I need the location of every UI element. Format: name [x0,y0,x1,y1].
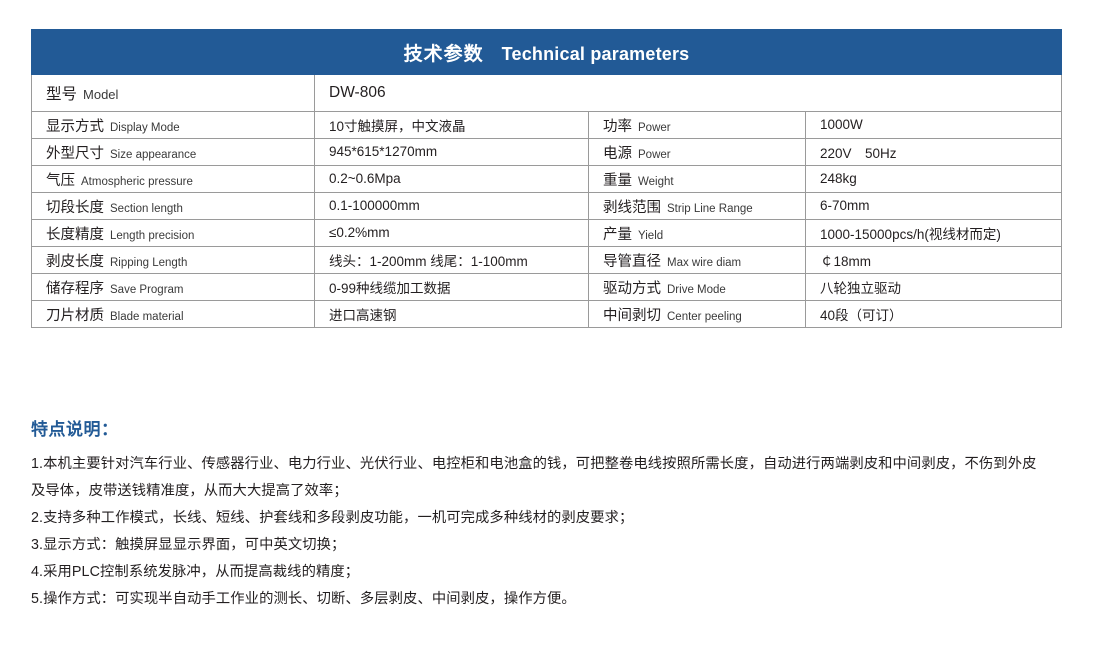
param-value-cell: ￠18mm [806,247,1062,274]
param-label-en: Yield [638,230,663,242]
feature-item: 2.支持多种工作模式，长线、短线、护套线和多段剥皮功能，一机可完成多种线材的剥皮… [31,505,1061,532]
table-title-en: Technical parameters [502,44,690,64]
param-value: 10寸触摸屏，中文液晶 [329,119,466,134]
param-label-cn: 电源 [603,146,632,162]
param-label-cell: 外型尺寸Size appearance [32,139,315,166]
param-label-cell: 导管直径Max wire diam [589,247,806,274]
feature-item: 5.操作方式：可实现半自动手工作业的测长、切断、多层剥皮、中间剥皮，操作方便。 [31,586,1061,613]
param-label-cn: 切段长度 [46,200,104,216]
param-label-cn: 驱动方式 [603,281,661,297]
param-label-en: Weight [638,176,674,188]
features-section: 特点说明： 1.本机主要针对汽车行业、传感器行业、电力行业、光伏行业、电控柜和电… [31,415,1061,613]
param-label-cell: 中间剥切Center peeling [589,301,806,328]
param-value-cell: 1000W [806,112,1062,139]
param-label-en: Ripping Length [110,257,187,269]
param-label-cell: 产量Yield [589,220,806,247]
param-value: ￠18mm [820,254,871,269]
param-value-cell: 线头：1-200mm 线尾：1-100mm [315,247,589,274]
table-row: 储存程序Save Program 0-99种线缆加工数据 驱动方式Drive M… [32,274,1062,301]
param-value-cell: 945*615*1270mm [315,139,589,166]
param-label-en: Display Mode [110,122,180,134]
param-label-en: Save Program [110,284,184,296]
param-value: 40段（可订） [820,308,903,323]
param-value-cell: 0-99种线缆加工数据 [315,274,589,301]
param-label-cell: 气压Atmospheric pressure [32,166,315,193]
param-value: 线头：1-200mm 线尾：1-100mm [329,254,528,269]
param-value: 945*615*1270mm [329,144,437,159]
param-value: ≤0.2%mm [329,225,390,240]
param-value-cell: 0.1-100000mm [315,193,589,220]
param-label-cn: 刀片材质 [46,308,104,324]
param-value-cell: 1000-15000pcs/h(视线材而定) [806,220,1062,247]
param-label-en: Power [638,122,671,134]
model-value-cell: DW-806 [315,75,1062,112]
param-label-cn: 储存程序 [46,281,104,297]
param-label-cell: 刀片材质Blade material [32,301,315,328]
param-value-cell: ≤0.2%mm [315,220,589,247]
param-label-cn: 剥皮长度 [46,254,104,270]
features-heading: 特点说明： [31,415,1061,440]
spec-table-container: 技术参数Technical parameters 型号Model DW-806 … [31,29,1061,328]
model-value: DW-806 [329,84,386,101]
param-label-cn: 导管直径 [603,254,661,270]
table-title-cn: 技术参数 [404,44,484,65]
param-label-en: Length precision [110,230,194,242]
model-label-cn: 型号 [46,86,77,103]
param-value: 1000-15000pcs/h(视线材而定) [820,227,1001,242]
feature-item: 3.显示方式：触摸屏显显示界面，可中英文切换； [31,532,1061,559]
param-label-cn: 长度精度 [46,227,104,243]
param-value: 1000W [820,117,863,132]
model-label-en: Model [83,87,118,102]
table-row: 气压Atmospheric pressure 0.2~0.6Mpa 重量Weig… [32,166,1062,193]
param-value-cell: 6-70mm [806,193,1062,220]
param-label-en: Section length [110,203,183,215]
param-label-cell: 剥线范围Strip Line Range [589,193,806,220]
param-value: 220V 50Hz [820,146,897,161]
param-label-en: Max wire diam [667,257,741,269]
param-label-en: Power [638,149,671,161]
technical-parameters-table: 技术参数Technical parameters 型号Model DW-806 … [31,29,1062,328]
table-row: 剥皮长度Ripping Length 线头：1-200mm 线尾：1-100mm… [32,247,1062,274]
feature-item: 4.采用PLC控制系统发脉冲，从而提高裁线的精度； [31,559,1061,586]
param-label-en: Strip Line Range [667,203,753,215]
param-value-cell: 248kg [806,166,1062,193]
param-label-cell: 储存程序Save Program [32,274,315,301]
table-row: 长度精度Length precision ≤0.2%mm 产量Yield 100… [32,220,1062,247]
param-label-cn: 显示方式 [46,119,104,135]
param-value: 0-99种线缆加工数据 [329,281,451,296]
param-value-cell: 八轮独立驱动 [806,274,1062,301]
param-label-cell: 剥皮长度Ripping Length [32,247,315,274]
table-row: 显示方式Display Mode 10寸触摸屏，中文液晶 功率Power 100… [32,112,1062,139]
param-label-cn: 中间剥切 [603,308,661,324]
param-value-cell: 220V 50Hz [806,139,1062,166]
table-title-cell: 技术参数Technical parameters [32,30,1062,75]
param-label-en: Blade material [110,311,184,323]
param-value-cell: 0.2~0.6Mpa [315,166,589,193]
param-label-en: Drive Mode [667,284,726,296]
param-label-cn: 气压 [46,173,75,189]
table-row: 外型尺寸Size appearance 945*615*1270mm 电源Pow… [32,139,1062,166]
param-label-en: Size appearance [110,149,196,161]
table-title-row: 技术参数Technical parameters [32,30,1062,75]
param-value: 6-70mm [820,198,870,213]
param-label-en: Center peeling [667,311,742,323]
param-value: 0.1-100000mm [329,198,420,213]
param-label-cell: 切段长度Section length [32,193,315,220]
param-label-cn: 功率 [603,119,632,135]
param-label-cell: 功率Power [589,112,806,139]
spec-table-body: 技术参数Technical parameters 型号Model DW-806 … [32,30,1062,328]
param-label-cell: 电源Power [589,139,806,166]
param-label-cn: 产量 [603,227,632,243]
param-value-cell: 进口高速钢 [315,301,589,328]
table-row: 刀片材质Blade material 进口高速钢 中间剥切Center peel… [32,301,1062,328]
param-label-cell: 显示方式Display Mode [32,112,315,139]
param-value: 0.2~0.6Mpa [329,171,401,186]
param-value: 248kg [820,171,857,186]
param-label-en: Atmospheric pressure [81,176,193,188]
table-row: 切段长度Section length 0.1-100000mm 剥线范围Stri… [32,193,1062,220]
feature-item: 1.本机主要针对汽车行业、传感器行业、电力行业、光伏行业、电控柜和电池盒的钱，可… [31,451,1043,505]
param-value-cell: 10寸触摸屏，中文液晶 [315,112,589,139]
param-label-cell: 驱动方式Drive Mode [589,274,806,301]
param-label-cell: 长度精度Length precision [32,220,315,247]
param-label-cn: 重量 [603,173,632,189]
model-label-cell: 型号Model [32,75,315,112]
param-label-cn: 剥线范围 [603,200,661,216]
param-value-cell: 40段（可订） [806,301,1062,328]
param-label-cn: 外型尺寸 [46,146,104,162]
param-value: 八轮独立驱动 [820,281,901,296]
table-title: 技术参数Technical parameters [404,39,690,66]
param-label-cell: 重量Weight [589,166,806,193]
param-value: 进口高速钢 [329,308,397,323]
table-row-model: 型号Model DW-806 [32,75,1062,112]
